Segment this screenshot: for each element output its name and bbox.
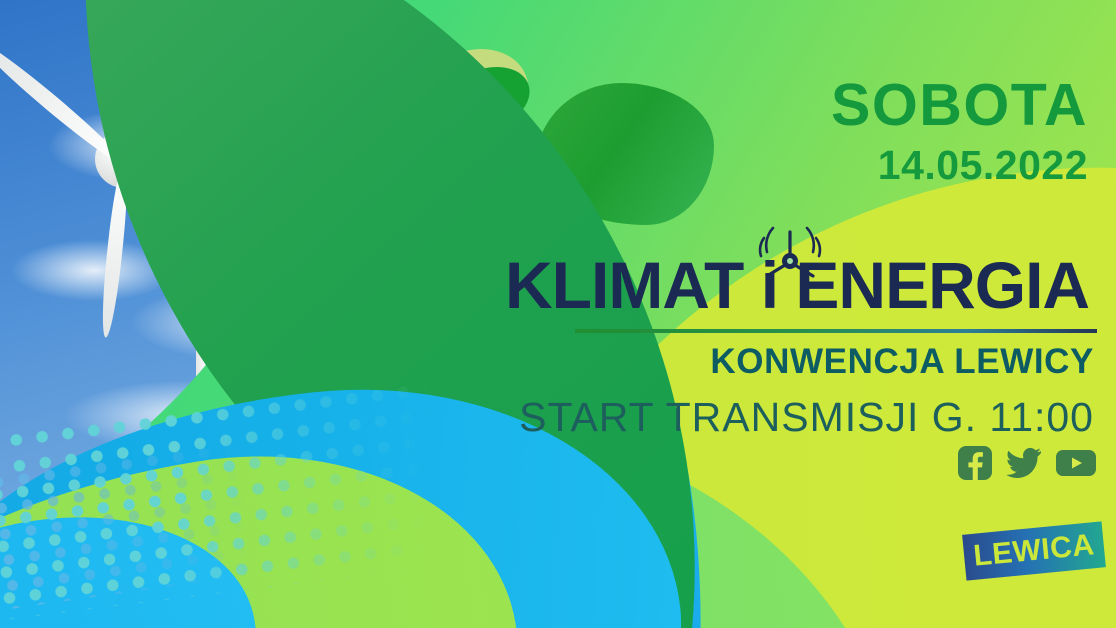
divider-line — [575, 329, 1097, 333]
twitter-icon[interactable] — [1006, 447, 1042, 479]
subtitle-text: KONWENCJA LEWICY — [710, 342, 1094, 382]
date-block: SOBOTA 14.05.2022 — [831, 76, 1088, 186]
event-date: 14.05.2022 — [831, 145, 1088, 186]
day-label: SOBOTA — [831, 76, 1088, 135]
wind-turbine-icon — [745, 218, 835, 306]
lewica-logo-text: LEWICA — [972, 528, 1096, 573]
poster: SOBOTA 14.05.2022 KLIMAT i ENERGIA KONWE… — [0, 0, 1116, 628]
facebook-icon[interactable] — [958, 446, 992, 480]
youtube-icon[interactable] — [1056, 448, 1096, 478]
social-icons — [958, 446, 1096, 480]
broadcast-time-text: START TRANSMISJI G. 11:00 — [519, 394, 1094, 441]
